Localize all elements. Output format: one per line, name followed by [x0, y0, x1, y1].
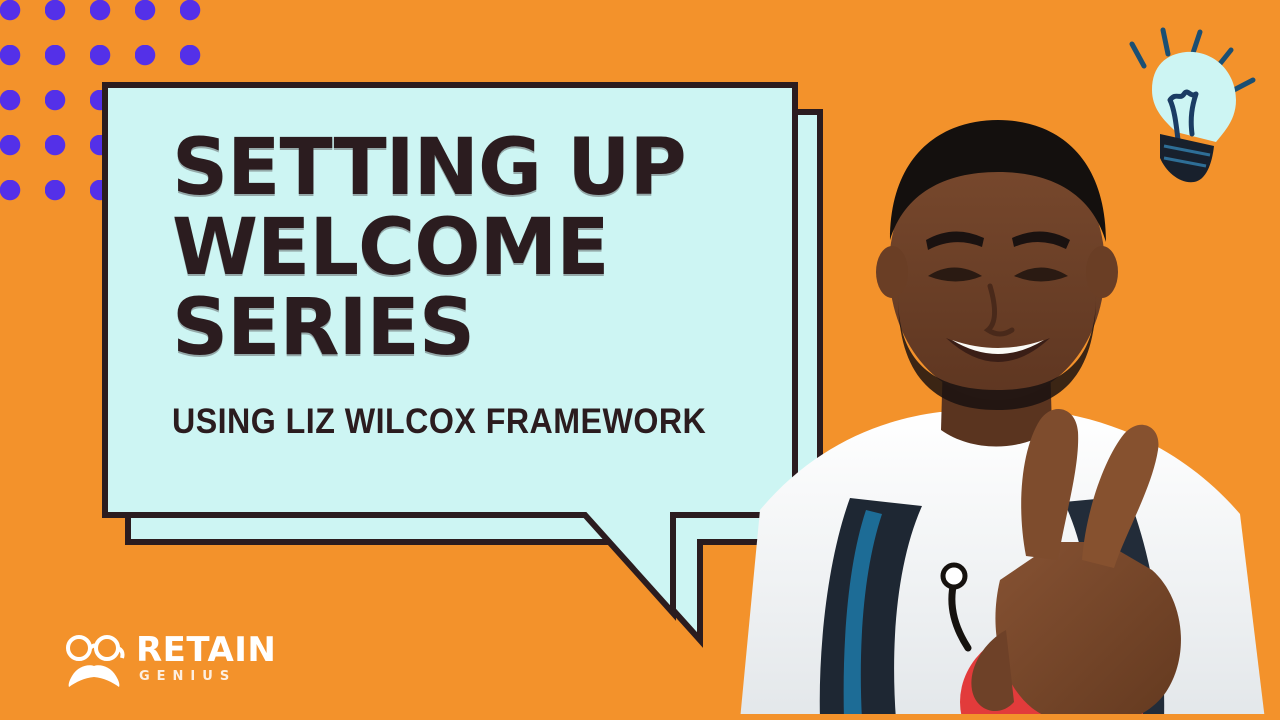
ear-left [876, 246, 908, 298]
glasses-lens-right [96, 637, 118, 659]
subtitle: USING LIZ WILCOX FRAMEWORK [172, 402, 706, 442]
logo-title: RETAIN [136, 633, 276, 667]
bottom-strip [0, 714, 1280, 720]
ear-right [1086, 246, 1118, 298]
title-line-3: SERIES [172, 288, 772, 368]
lightbulb-icon [1118, 22, 1268, 192]
title-block: SETTING UP WELCOME SERIES [172, 128, 772, 368]
photo-contents [740, 120, 1265, 720]
title-line-2: WELCOME [172, 208, 772, 288]
title-line-1: SETTING UP [172, 128, 772, 208]
glasses-lens-left [68, 637, 90, 659]
brand-logo: RETAIN GENIUS [62, 620, 282, 700]
thumbnail-canvas: SETTING UP WELCOME SERIES USING LIZ WILC… [0, 0, 1280, 720]
glasses-mustache-icon [62, 628, 126, 692]
mustache-icon [69, 665, 120, 687]
logo-text: RETAIN GENIUS [136, 633, 276, 687]
glasses-bridge [90, 646, 96, 649]
logo-tagline: GENIUS [136, 667, 276, 687]
